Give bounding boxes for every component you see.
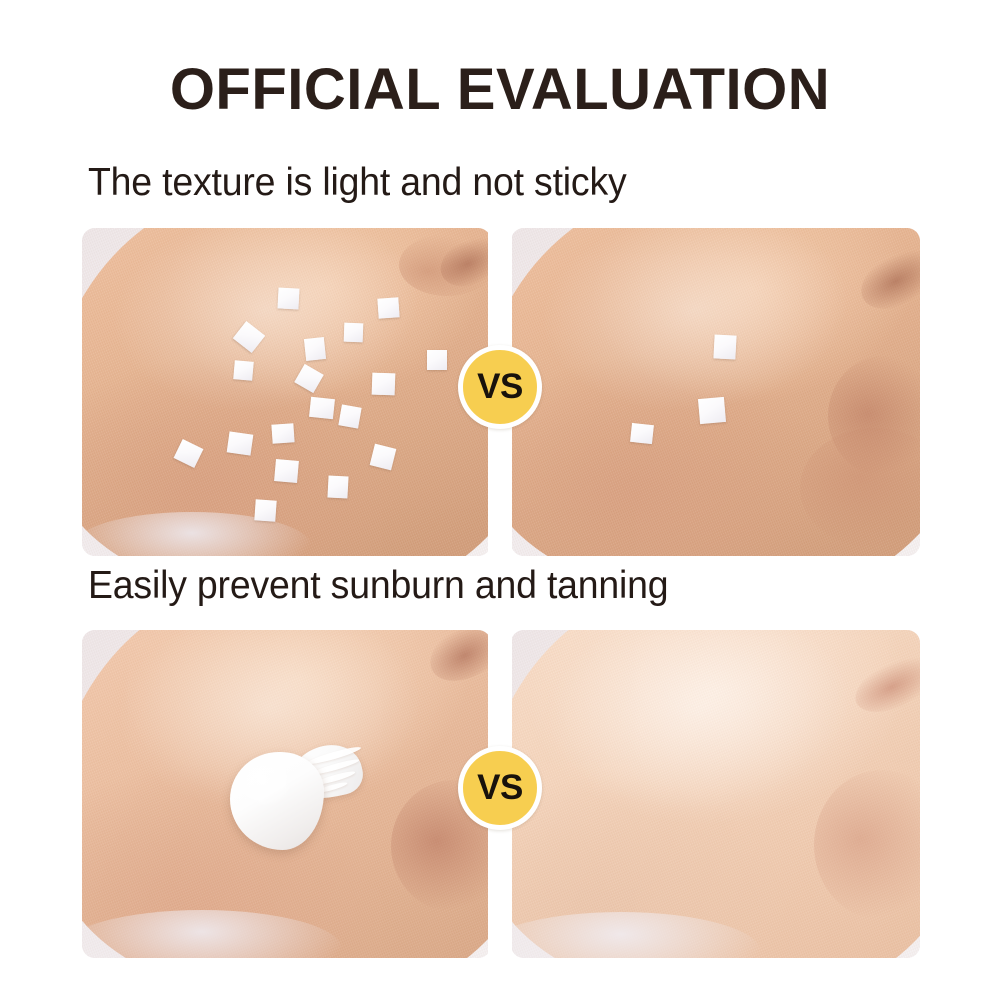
paper-chip bbox=[713, 334, 736, 359]
hand-shape bbox=[511, 630, 920, 958]
panel-sunburn-before bbox=[82, 630, 491, 958]
paper-chip bbox=[233, 360, 254, 381]
paper-chip bbox=[630, 423, 654, 444]
paper-chip bbox=[372, 373, 396, 396]
hand-photo-many-chips bbox=[82, 228, 491, 556]
vs-badge-texture: VS bbox=[458, 345, 542, 429]
paper-chip bbox=[304, 337, 326, 361]
cream-body bbox=[230, 752, 324, 850]
hand-photo-cream-applied bbox=[82, 630, 491, 958]
paper-chip bbox=[309, 397, 335, 419]
hand-shape bbox=[511, 228, 920, 556]
hand-shape bbox=[82, 228, 491, 556]
paper-chip bbox=[327, 475, 348, 498]
panel-texture-before bbox=[82, 228, 491, 556]
cream-dollop bbox=[230, 740, 365, 855]
vs-badge-label: VS bbox=[477, 770, 523, 805]
vs-badge-sunburn: VS bbox=[458, 746, 542, 830]
paper-chip bbox=[271, 423, 294, 443]
section-heading-texture: The texture is light and not sticky bbox=[88, 162, 627, 205]
paper-chip bbox=[227, 431, 254, 455]
panel-texture-after bbox=[511, 228, 920, 556]
paper-chip bbox=[277, 287, 299, 309]
product-evaluation-page: OFFICIAL EVALUATION The texture is light… bbox=[0, 0, 1000, 1000]
paper-chip bbox=[344, 323, 364, 343]
skin-texture-overlay bbox=[511, 228, 920, 556]
paper-chip bbox=[427, 350, 447, 370]
vs-badge-label: VS bbox=[477, 369, 523, 404]
skin-texture-overlay bbox=[82, 228, 491, 556]
paper-chip bbox=[377, 297, 399, 318]
paper-chip bbox=[274, 459, 299, 483]
paper-chip bbox=[698, 397, 726, 424]
section-heading-sunburn: Easily prevent sunburn and tanning bbox=[88, 565, 668, 608]
hand-photo-few-chips bbox=[511, 228, 920, 556]
paper-chip bbox=[254, 499, 276, 521]
paper-chip bbox=[338, 404, 361, 428]
skin-texture-overlay bbox=[511, 630, 920, 958]
panel-sunburn-after bbox=[511, 630, 920, 958]
page-title: OFFICIAL EVALUATION bbox=[0, 60, 1000, 121]
hand-photo-cream-absorbed bbox=[511, 630, 920, 958]
